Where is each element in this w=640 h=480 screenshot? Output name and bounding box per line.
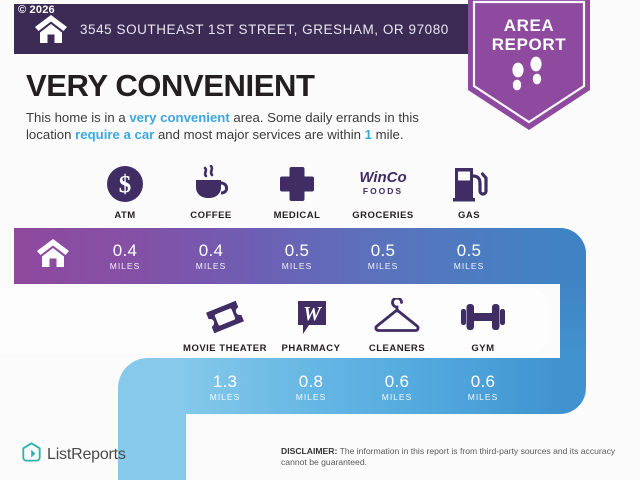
badge-text: AREA REPORT: [468, 16, 590, 54]
distance-unit: MILES: [340, 261, 426, 271]
distance-cell: 0.5 MILES: [254, 241, 340, 271]
amenity-label: ATM: [114, 210, 135, 221]
distance-unit: MILES: [440, 392, 526, 402]
subtitle-part-3: and most major services are within: [154, 127, 364, 142]
amenity-icon-row-2: MOVIE THEATER W PHARMACY CLEANERS: [182, 296, 526, 354]
subtitle-part-4: mile.: [372, 127, 404, 142]
svg-text:FOODS: FOODS: [363, 186, 403, 196]
disclaimer: DISCLAIMER: The information in this repo…: [281, 446, 626, 468]
distance-unit: MILES: [254, 261, 340, 271]
amenity-pharmacy: W PHARMACY: [268, 296, 354, 354]
amenity-label: GYM: [471, 343, 494, 354]
listreports-house-tag-icon: [22, 442, 41, 467]
subtitle-highlight-3: 1: [365, 127, 372, 142]
distance-value: 0.4: [168, 241, 254, 260]
amenity-label: MOVIE THEATER: [183, 343, 267, 354]
distance-unit: MILES: [354, 392, 440, 402]
svg-text:$: $: [119, 172, 132, 199]
badge-line-2: REPORT: [468, 35, 590, 54]
disclaimer-label: DISCLAIMER:: [281, 446, 337, 456]
distance-unit: MILES: [168, 261, 254, 271]
area-report-badge: AREA REPORT: [468, 0, 590, 134]
amenity-medical: MEDICAL: [254, 163, 340, 221]
distance-row-1: 0.4 MILES 0.4 MILES 0.5 MILES 0.5 MILES …: [82, 241, 512, 271]
distance-cell: 0.5 MILES: [340, 241, 426, 271]
badge-line-1: AREA: [468, 16, 590, 35]
distance-value: 0.6: [354, 372, 440, 391]
amenity-cleaners: CLEANERS: [354, 296, 440, 354]
medical-cross-icon: [278, 163, 316, 203]
header-bar: 3545 SOUTHEAST 1ST STREET, GRESHAM, OR 9…: [14, 4, 470, 54]
amenity-gym: GYM: [440, 296, 526, 354]
subtitle-highlight-2: require a car: [75, 127, 154, 142]
gas-pump-icon: [450, 163, 488, 203]
dollar-circle-icon: $: [106, 163, 144, 203]
amenity-movie-theater: MOVIE THEATER: [182, 296, 268, 354]
amenity-gas: GAS: [426, 163, 512, 221]
winco-foods-logo: WinCo FOODS: [347, 163, 419, 203]
distance-cell: 0.6 MILES: [354, 372, 440, 402]
distance-row-2: 1.3 MILES 0.8 MILES 0.6 MILES 0.6 MILES: [182, 372, 526, 402]
distance-unit: MILES: [182, 392, 268, 402]
ribbon-home-icon: [36, 238, 70, 273]
distance-unit: MILES: [426, 261, 512, 271]
amenity-icon-row-1: $ ATM COFFEE MEDICAL: [82, 163, 512, 221]
distance-cell: 0.4 MILES: [168, 241, 254, 271]
svg-text:WinCo: WinCo: [359, 169, 406, 186]
distance-value: 0.4: [82, 241, 168, 260]
amenity-label: PHARMACY: [282, 343, 341, 354]
amenity-label: GROCERIES: [352, 210, 414, 221]
amenity-label: GAS: [458, 210, 480, 221]
area-report-page: 3545 SOUTHEAST 1ST STREET, GRESHAM, OR 9…: [0, 0, 640, 480]
distance-value: 0.8: [268, 372, 354, 391]
distance-cell: 0.8 MILES: [268, 372, 354, 402]
distance-value: 0.5: [426, 241, 512, 260]
page-title: VERY CONVENIENT: [26, 68, 315, 104]
subtitle-part-1: This home is in a: [26, 110, 129, 125]
distance-cell: 0.4 MILES: [82, 241, 168, 271]
amenity-label: COFFEE: [190, 210, 232, 221]
amenity-atm: $ ATM: [82, 163, 168, 221]
property-address: 3545 SOUTHEAST 1ST STREET, GRESHAM, OR 9…: [80, 22, 449, 37]
listreports-logo: ListReports: [22, 442, 126, 467]
distance-value: 0.6: [440, 372, 526, 391]
movie-ticket-icon: [205, 296, 245, 336]
clothes-hanger-icon: [373, 296, 421, 336]
distance-value: 0.5: [254, 241, 340, 260]
walgreens-w-logo: W: [292, 296, 330, 336]
distance-unit: MILES: [268, 392, 354, 402]
amenity-label: MEDICAL: [274, 210, 321, 221]
copyright-label: © 2026: [18, 4, 55, 16]
listreports-brand: ListReports: [47, 446, 126, 464]
subtitle-highlight-1: very convenient: [129, 110, 229, 125]
amenity-groceries: WinCo FOODS GROCERIES: [340, 163, 426, 221]
coffee-cup-icon: [190, 163, 232, 203]
amenity-coffee: COFFEE: [168, 163, 254, 221]
page-subtitle: This home is in a very convenient area. …: [26, 110, 446, 143]
distance-value: 1.3: [182, 372, 268, 391]
distance-value: 0.5: [340, 241, 426, 260]
distance-cell: 0.5 MILES: [426, 241, 512, 271]
svg-text:W: W: [303, 303, 322, 325]
distance-cell: 0.6 MILES: [440, 372, 526, 402]
amenity-label: CLEANERS: [369, 343, 425, 354]
dumbbell-icon: [460, 296, 506, 336]
distance-cell: 1.3 MILES: [182, 372, 268, 402]
distance-unit: MILES: [82, 261, 168, 271]
